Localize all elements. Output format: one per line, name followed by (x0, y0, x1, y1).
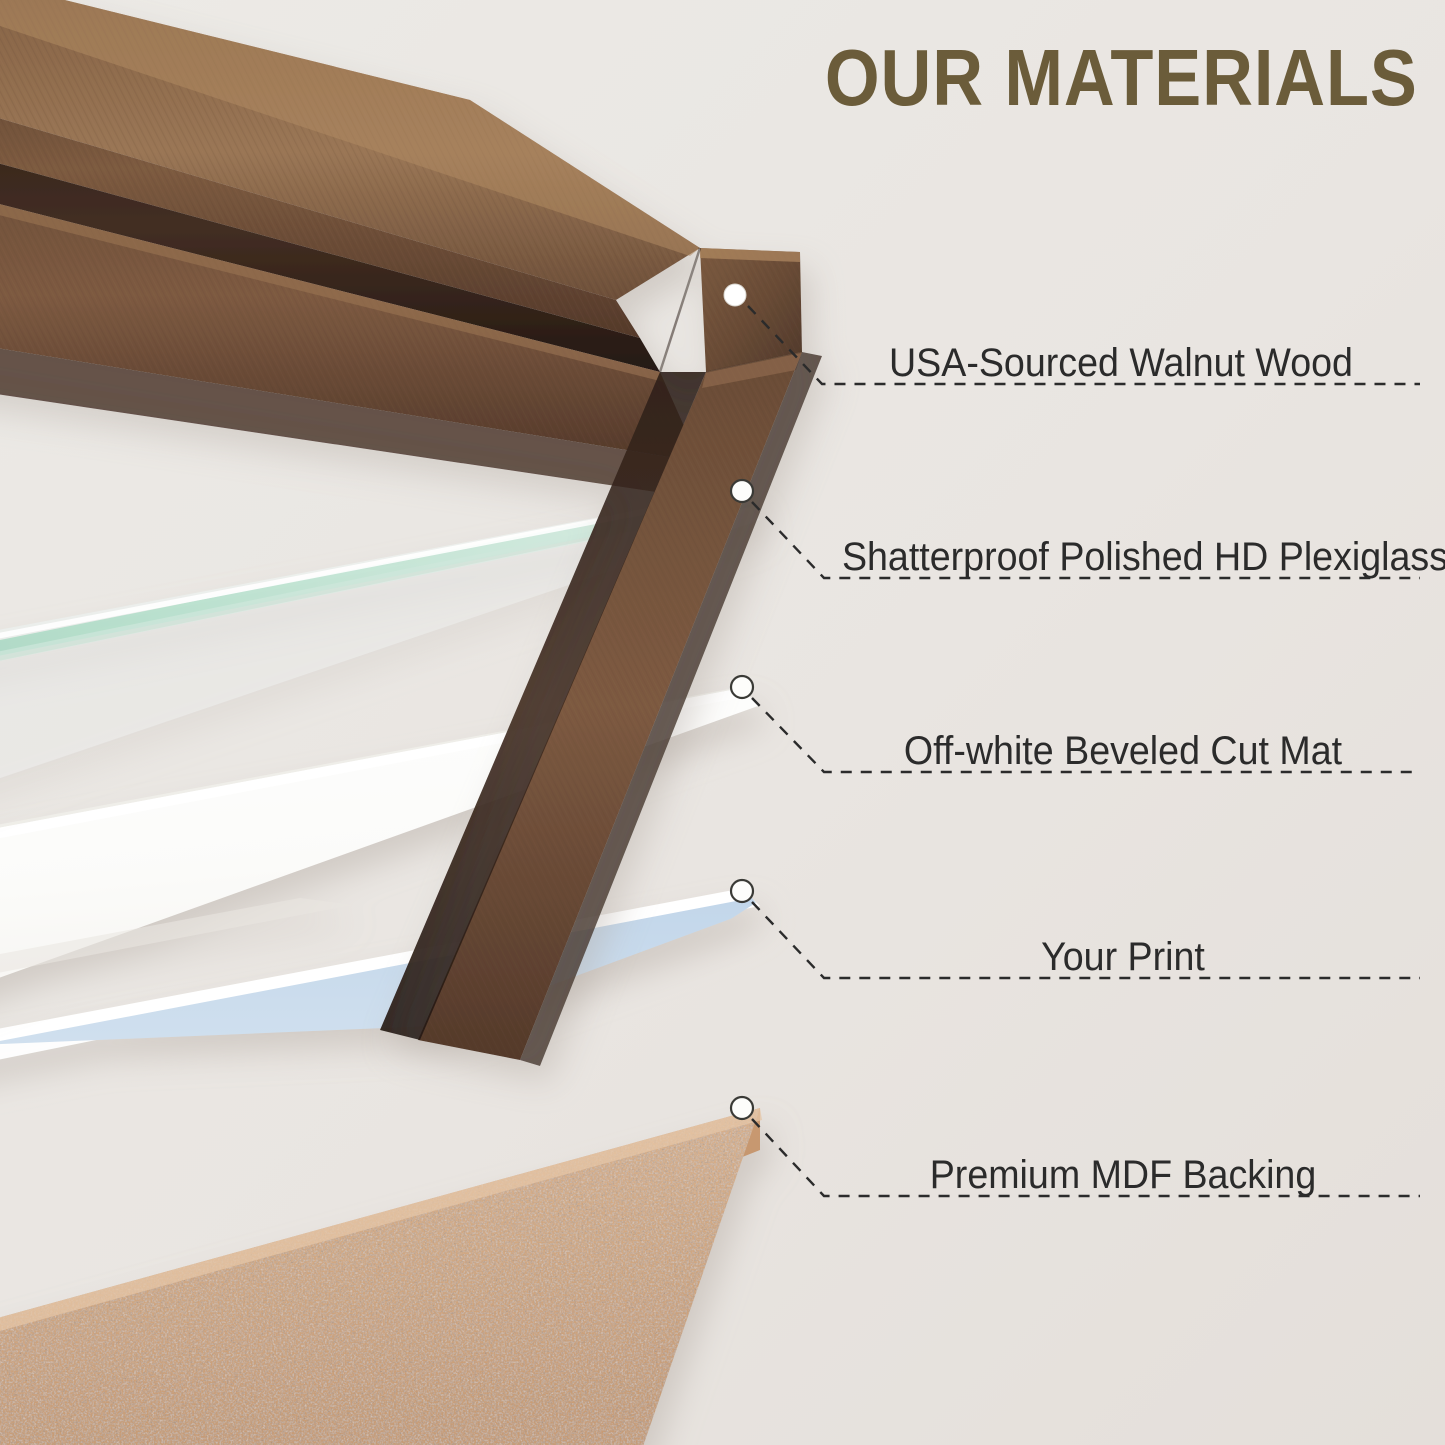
callout-label-mat: Off-white Beveled Cut Mat (842, 731, 1404, 771)
callout-dot-mdf-backing[interactable] (731, 1097, 753, 1119)
callout-dot-print[interactable] (731, 880, 753, 902)
callout-label-print: Your Print (842, 937, 1404, 977)
infographic-canvas: OUR MATERIALS USA-Sourced Walnut Wood Sh… (0, 0, 1445, 1445)
callout-dot-plexiglass[interactable] (731, 480, 753, 502)
page-title: OUR MATERIALS (825, 38, 1418, 118)
callout-label-mdf-backing: Premium MDF Backing (842, 1155, 1404, 1195)
callout-label-walnut-wood: USA-Sourced Walnut Wood (840, 343, 1402, 383)
callout-dot-mat[interactable] (731, 676, 753, 698)
exploded-frame-illustration (0, 0, 1445, 1445)
callout-label-plexiglass: Shatterproof Polished HD Plexiglass (842, 537, 1404, 577)
callout-dot-walnut-wood[interactable] (724, 284, 746, 306)
